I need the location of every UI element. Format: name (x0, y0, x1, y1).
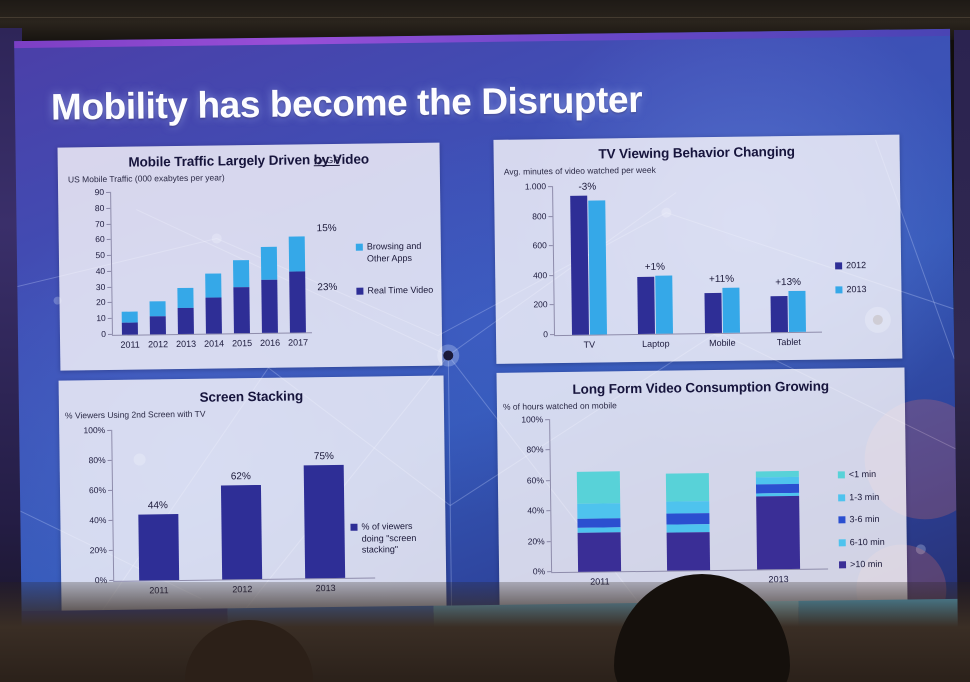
bar-segment (666, 473, 709, 502)
bar (304, 465, 345, 579)
y-axis-mobile-traffic: 90 80 70 60 50 40 30 20 10 0 (62, 192, 112, 335)
bar-segment (667, 513, 710, 525)
y-tick: 40% (89, 515, 106, 525)
bar-slot: Mobile+11% (687, 183, 755, 333)
stacked-bar (260, 210, 278, 333)
bar-segment (577, 471, 620, 504)
legend-swatch-video (356, 288, 363, 295)
bar-group-screen-stacking: 201144%201262%201375% (115, 427, 367, 581)
legend-label-browsing: Browsing and Other Apps (367, 241, 440, 265)
legend-swatch-2012 (835, 262, 842, 269)
y-tick: 0% (533, 566, 545, 576)
stacked-bar (177, 269, 194, 334)
bar-slot: 2013 (170, 191, 200, 334)
bar-segment (667, 501, 710, 514)
y-axis-long-form-video: 100% 80% 60% 40% 20% 0% (497, 419, 551, 572)
plot-tv-viewing: 1.000 800 600 400 200 0 TV-3%Laptop+1%Mo… (494, 172, 902, 364)
y-tick: 80% (89, 455, 106, 465)
bar-segment (261, 247, 277, 279)
y-tick: 1.000 (525, 181, 546, 191)
bar-value-label: +11% (709, 274, 734, 285)
bar-segment (177, 288, 193, 308)
chart-panel-mobile-traffic: Mobile Traffic Largely Driven by Video U… (58, 143, 443, 371)
y-axis-tv-viewing: 1.000 800 600 400 200 0 (494, 186, 554, 335)
legend-label-lt1min: <1 min (849, 469, 876, 481)
bar-slot: 2016 (254, 190, 284, 333)
cagr-header: CAGR (314, 155, 340, 165)
bar (722, 288, 740, 333)
legend-tv-viewing: 2012 2013 (835, 260, 867, 302)
y-tick: 200 (533, 300, 547, 310)
legend-item: 6-10 min (839, 536, 885, 548)
bar-slot: 2012 (642, 417, 733, 571)
y-tick: 40 (96, 266, 106, 276)
bar (638, 277, 656, 334)
bar-value-label: -3% (578, 182, 596, 193)
legend-item: 2012 (835, 260, 866, 272)
y-tick: 80 (95, 203, 105, 213)
bar-slot: 2011 (114, 191, 144, 334)
bar (138, 514, 179, 581)
legend-swatch-2013 (835, 286, 842, 293)
legend-item: Browsing and Other Apps (356, 241, 440, 265)
bar-segment (150, 301, 166, 317)
x-tick-label: 2011 (116, 339, 144, 349)
bar-segment (667, 532, 710, 571)
bar-cluster (554, 185, 622, 335)
x-tick-label: Mobile (689, 337, 756, 348)
slide-title: Mobility has become the Disrupter (51, 79, 643, 129)
legend-swatch-3to6min (838, 516, 845, 523)
legend-item: >10 min (839, 559, 885, 571)
foreground-shadow (0, 582, 970, 682)
y-tick: 10 (96, 313, 106, 323)
legend-mobile-traffic: Browsing and Other Apps Real Time Video (356, 241, 441, 305)
stacked-bar (288, 196, 306, 333)
bar-segment (577, 503, 620, 519)
bar-value-label: 44% (148, 500, 168, 511)
legend-label-gt10min: >10 min (850, 559, 882, 571)
y-tick: 20 (96, 297, 106, 307)
bar-segment (261, 279, 278, 333)
y-tick: 80% (526, 445, 543, 455)
bar-segment (205, 273, 221, 298)
y-tick: 60 (95, 234, 105, 244)
bar-slot: Laptop+1% (621, 184, 689, 334)
legend-item: 2013 (835, 284, 866, 296)
y-tick: 40% (527, 505, 544, 515)
presentation-slide: Mobility has become the Disrupter Mobile… (14, 29, 958, 641)
x-tick-label: 2014 (200, 338, 228, 348)
legend-swatch-lt1min (838, 471, 845, 478)
bar (570, 196, 589, 335)
bar-segment (150, 316, 166, 334)
bar (655, 276, 673, 334)
bar-slot: Tablet+13% (754, 183, 822, 333)
legend-label-3to6min: 3-6 min (849, 514, 879, 526)
bar-segment (233, 260, 249, 288)
bar-slot: 2017 (282, 189, 312, 332)
legend-label-1to3min: 1-3 min (849, 491, 879, 503)
x-tick-label: TV (556, 339, 623, 350)
stacked-bar (122, 301, 138, 335)
y-tick: 0 (543, 329, 548, 339)
bar-value-label: 75% (314, 451, 334, 462)
bar-group-tv-viewing: TV-3%Laptop+1%Mobile+11%Tablet+13% (554, 183, 822, 335)
bar-segment (122, 322, 138, 334)
bar-segment (178, 308, 194, 334)
bar-slot: 2012 (142, 191, 172, 334)
legend-item: 1-3 min (838, 491, 884, 503)
legend-item: Real Time Video (356, 285, 440, 298)
bar-slot: 2015 (226, 190, 256, 333)
bar-segment (756, 496, 800, 570)
cagr-browsing-value: 15% (317, 223, 337, 234)
bar-cluster (199, 428, 284, 580)
y-tick: 100% (521, 414, 543, 424)
bar-segment (233, 288, 250, 334)
x-tick-label: 2012 (144, 339, 172, 349)
y-axis-screen-stacking: 100% 80% 60% 40% 20% 0% (59, 430, 113, 581)
screenshot-stage: Mobility has become the Disrupter Mobile… (0, 0, 970, 682)
y-tick: 50 (95, 250, 105, 260)
cagr-video-value: 23% (317, 282, 337, 293)
plot-mobile-traffic: 90 80 70 60 50 40 30 20 10 0 20112012201… (58, 180, 442, 370)
stacked-bar (233, 228, 250, 333)
legend-swatch-6to10min (839, 539, 846, 546)
bar-segment (205, 298, 221, 334)
bar-group-mobile-traffic: 2011201220132014201520162017 (114, 189, 312, 335)
x-tick-label: 2016 (256, 338, 284, 348)
legend-label-video: Real Time Video (367, 285, 433, 297)
x-tick-label: Tablet (756, 337, 823, 348)
legend-item: <1 min (838, 469, 884, 481)
legend-screen-stacking: % of viewers doing "screen stacking" (350, 521, 437, 564)
x-tick-label: 2013 (172, 339, 200, 349)
y-tick: 20% (528, 536, 545, 546)
legend-swatch-browsing (356, 244, 363, 251)
x-tick-label: 2015 (228, 338, 256, 348)
stacked-bar (666, 422, 711, 571)
legend-swatch-gt10min (839, 561, 846, 568)
legend-item: 3-6 min (838, 514, 884, 526)
y-tick: 800 (532, 211, 546, 221)
bar-slot: 2013 (732, 416, 823, 570)
bar-segment (578, 532, 622, 572)
x-tick-label: Laptop (623, 338, 690, 349)
legend-long-form-video: <1 min 1-3 min 3-6 min 6-10 min >10 min (838, 469, 885, 578)
y-tick: 70 (95, 219, 105, 229)
legend-label-2012: 2012 (846, 260, 866, 272)
y-tick: 0 (101, 329, 106, 339)
bar-slot: 201144% (115, 429, 200, 581)
bar-slot: 201262% (199, 428, 284, 580)
y-tick: 100% (83, 425, 105, 435)
bar-value-label: +1% (645, 262, 665, 273)
bar-slot: 2011 (553, 418, 644, 572)
stacked-bar (755, 419, 800, 569)
bar (771, 296, 788, 332)
bar (704, 293, 722, 333)
bar-value-label: 62% (231, 471, 251, 482)
legend-swatch-screen-stacking (350, 524, 357, 531)
y-tick: 30 (96, 282, 106, 292)
x-tick-label: 2017 (284, 337, 312, 347)
bar-segment (289, 237, 305, 272)
bar-segment (289, 271, 306, 332)
bar (588, 200, 607, 334)
legend-label-6to10min: 6-10 min (850, 536, 885, 548)
bar-slot: TV-3% (554, 185, 622, 335)
bar-group-long-form-video: 201120122013 (553, 416, 823, 572)
legend-item: % of viewers doing "screen stacking" (350, 521, 436, 557)
legend-label-screen-stacking: % of viewers doing "screen stacking" (361, 521, 436, 556)
bar-segment (122, 311, 138, 322)
bar-cluster (754, 183, 822, 333)
legend-label-2013: 2013 (846, 284, 866, 296)
chart-panel-tv-viewing: TV Viewing Behavior Changing Avg. minute… (493, 135, 902, 364)
y-tick: 600 (533, 240, 547, 250)
stacked-bar (576, 418, 621, 572)
y-tick: 90 (95, 187, 105, 197)
stacked-bar (149, 287, 166, 335)
bar (789, 291, 807, 332)
legend-swatch-1to3min (838, 494, 845, 501)
stacked-bar (205, 248, 222, 334)
y-tick: 60% (527, 475, 544, 485)
bar-cluster (621, 184, 689, 334)
y-tick: 20% (90, 545, 107, 555)
y-tick: 400 (533, 270, 547, 280)
bar-slot: 2014 (198, 190, 228, 333)
y-tick: 60% (89, 485, 106, 495)
bar (221, 485, 262, 579)
bar-cluster (687, 183, 755, 333)
bar-value-label: +13% (775, 277, 801, 288)
